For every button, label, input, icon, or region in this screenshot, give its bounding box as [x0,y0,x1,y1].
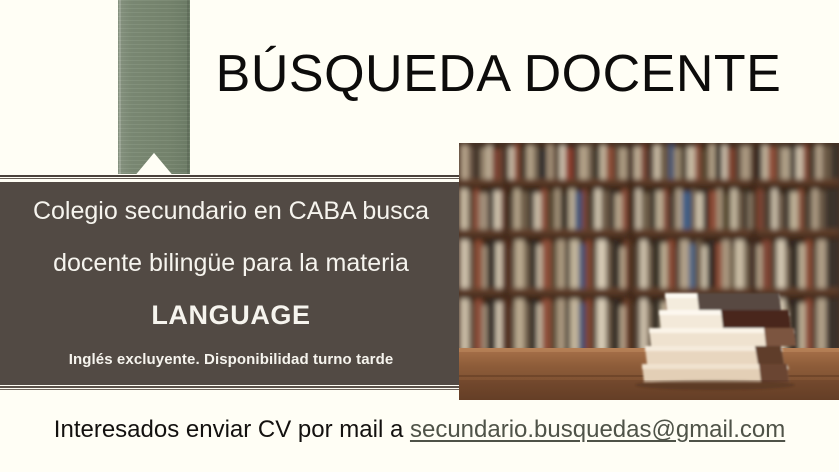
contact-line: Interesados enviar CV por mail a secunda… [0,415,839,445]
library-photo-illustration [459,143,839,400]
contact-lead-text: Interesados enviar CV por mail a [54,416,410,443]
job-posting-poster: BÚSQUEDA DOCENTE Colegio secundario en C… [0,0,839,472]
panel-bottom-rule [0,385,462,394]
requirements-label: Inglés excluyente. Disponibilidad turno … [0,350,462,370]
panel-line-1: Colegio secundario en CABA busca [0,196,462,226]
panel-line-2: docente bilingüe para la materia [0,248,462,278]
panel-top-rule [0,174,462,182]
subject-label: LANGUAGE [0,299,462,331]
library-photo [459,143,839,400]
contact-email-link[interactable]: secundario.busquedas@gmail.com [410,416,785,443]
page-title: BÚSQUEDA DOCENTE [0,44,839,104]
